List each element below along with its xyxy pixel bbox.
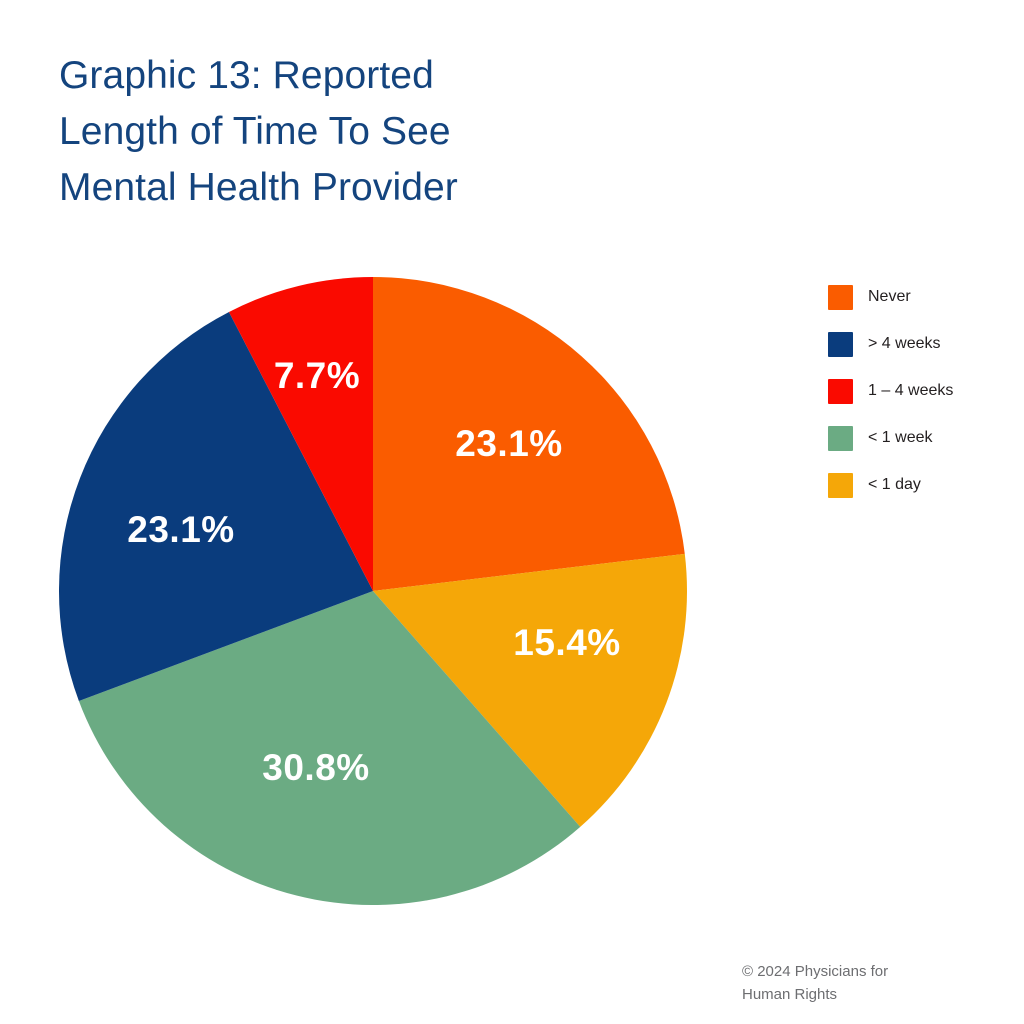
- legend-item-never[interactable]: Never: [828, 285, 1008, 309]
- legend-item-label: Never: [868, 289, 911, 305]
- pie-slice-label: 23.1%: [455, 423, 562, 464]
- legend-item-label: > 4 weeks: [868, 336, 940, 352]
- legend-item-1-4-weeks[interactable]: 1 – 4 weeks: [828, 379, 1008, 403]
- legend-swatch-icon: [828, 332, 853, 357]
- legend-item-1-week[interactable]: < 1 week: [828, 426, 1008, 450]
- pie-slice-label: 30.8%: [262, 747, 369, 788]
- pie-slice-label: 23.1%: [127, 509, 234, 550]
- legend-swatch-icon: [828, 426, 853, 451]
- pie-chart: 23.1%15.4%30.8%23.1%7.7%: [58, 275, 690, 907]
- legend-item-1-day[interactable]: < 1 day: [828, 473, 1008, 497]
- pie-slice-group: [59, 277, 687, 905]
- legend-item-4-weeks[interactable]: > 4 weeks: [828, 332, 1008, 356]
- chart-legend: Never> 4 weeks1 – 4 weeks< 1 week< 1 day: [828, 285, 1008, 520]
- pie-chart-svg: 23.1%15.4%30.8%23.1%7.7%: [58, 275, 690, 907]
- pie-slice-label: 15.4%: [513, 622, 620, 663]
- legend-swatch-icon: [828, 285, 853, 310]
- copyright-notice: © 2024 Physicians for Human Rights: [742, 960, 962, 1006]
- legend-swatch-icon: [828, 379, 853, 404]
- legend-swatch-icon: [828, 473, 853, 498]
- legend-item-label: < 1 week: [868, 430, 932, 446]
- pie-slice-label: 7.7%: [274, 355, 360, 396]
- legend-item-label: < 1 day: [868, 477, 921, 493]
- legend-item-label: 1 – 4 weeks: [868, 383, 953, 399]
- page-title: Graphic 13: Reported Length of Time To S…: [59, 48, 539, 216]
